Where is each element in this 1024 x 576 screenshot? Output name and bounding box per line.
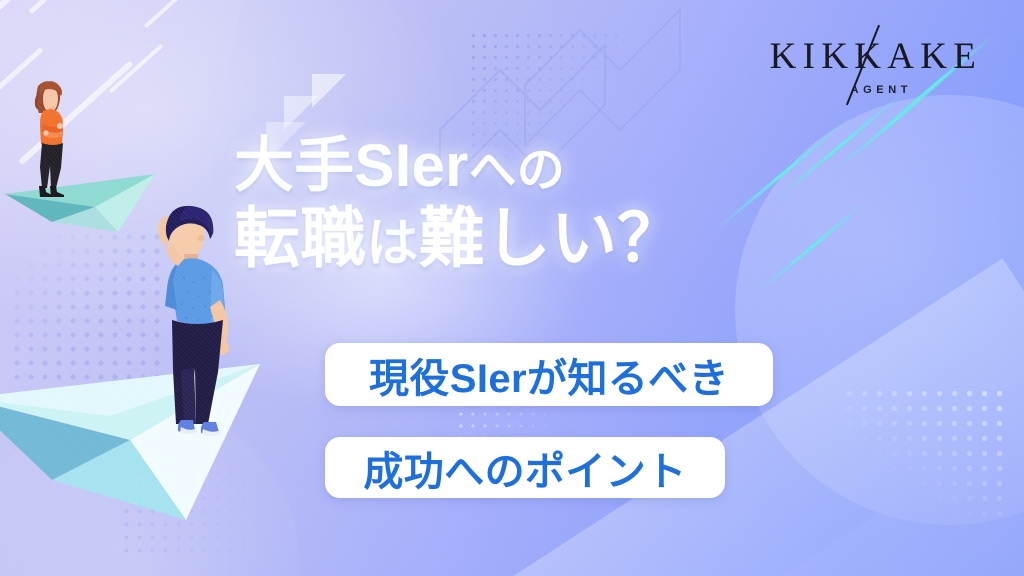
texture-overlay (0, 0, 1024, 576)
hero-banner: KIKKAKE AGENT 大手SIerへの 転職は難しい？ 現役SIerが知る… (0, 0, 1024, 576)
